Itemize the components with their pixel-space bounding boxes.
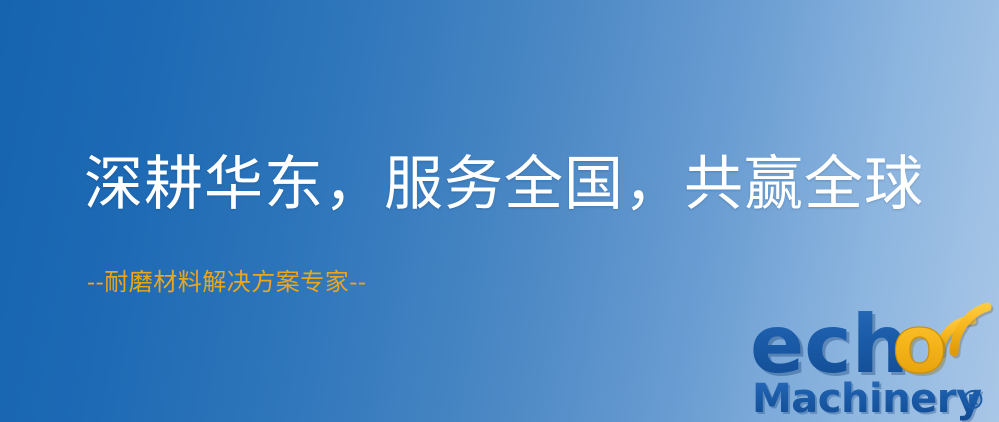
registered-trademark-icon: ® <box>960 386 986 416</box>
banner-headline: 深耕华东，服务全国，共赢全球 <box>84 152 924 216</box>
logo-tagline-text: Machinery <box>752 376 982 422</box>
banner-subtitle: --耐磨材料解决方案专家-- <box>87 268 366 297</box>
promotional-banner: 深耕华东，服务全国，共赢全球 --耐磨材料解决方案专家-- <box>0 0 999 422</box>
echo-machinery-logo[interactable]: ech ech o o Machinery Machinery ® <box>744 296 999 422</box>
logo-tagline: Machinery Machinery <box>752 376 984 422</box>
